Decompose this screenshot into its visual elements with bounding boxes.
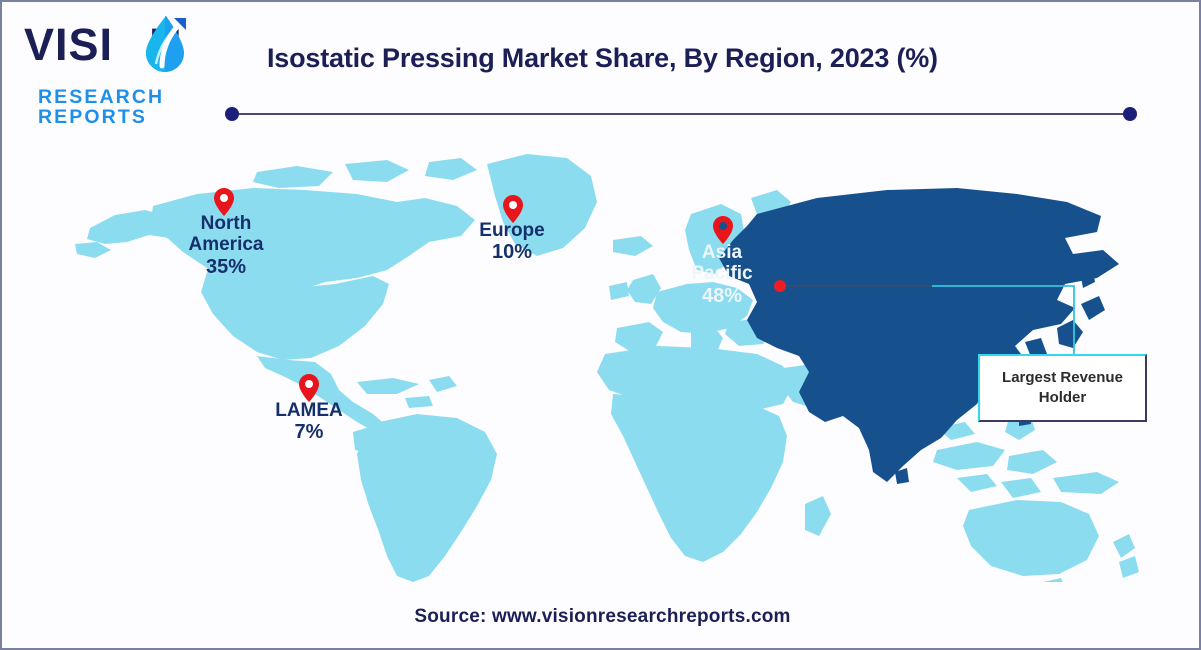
- region-name-line1: North: [168, 213, 284, 234]
- vision-research-reports-logo: VISION RESEARCH REPORTS: [24, 16, 236, 106]
- region-value: 35%: [168, 256, 284, 279]
- callout-largest-revenue-holder: Largest Revenue Holder: [978, 354, 1147, 422]
- region-label-north-america: North America 35%: [168, 213, 284, 279]
- region-label-lamea: LAMEA 7%: [254, 400, 364, 444]
- water-droplet-arrow-icon: [136, 14, 192, 76]
- callout-line1: Largest Revenue: [1002, 369, 1123, 386]
- page-title: Isostatic Pressing Market Share, By Regi…: [267, 42, 1167, 74]
- region-value: 48%: [665, 285, 779, 308]
- header-divider: [224, 106, 1138, 122]
- divider-dot-left: [225, 107, 239, 121]
- infographic-canvas: VISION RESEARCH REPORTS Isostatic Pressi…: [0, 0, 1201, 650]
- region-name-line1: Europe: [464, 220, 560, 241]
- region-value: 10%: [464, 241, 560, 264]
- logo-wordmark-part1: VISI: [24, 19, 113, 70]
- region-label-asia-pacific: Asia Pacific 48%: [665, 242, 779, 308]
- location-pin-icon-asia-pacific: [712, 215, 734, 245]
- source-note: Source: www.visionresearchreports.com: [2, 606, 1201, 628]
- region-name-line2: America: [168, 234, 284, 255]
- region-name-line1: Asia: [665, 242, 779, 263]
- region-value: 7%: [254, 421, 364, 444]
- region-name-line2: Pacific: [665, 263, 779, 284]
- logo-tagline: RESEARCH REPORTS: [38, 88, 236, 127]
- location-pin-icon-lamea: [298, 373, 320, 403]
- region-label-europe: Europe 10%: [464, 220, 560, 264]
- divider-dot-right: [1123, 107, 1137, 121]
- region-name-line1: LAMEA: [254, 400, 364, 421]
- callout-line2: Holder: [1039, 389, 1087, 406]
- callout-text: Largest Revenue Holder: [1002, 368, 1123, 409]
